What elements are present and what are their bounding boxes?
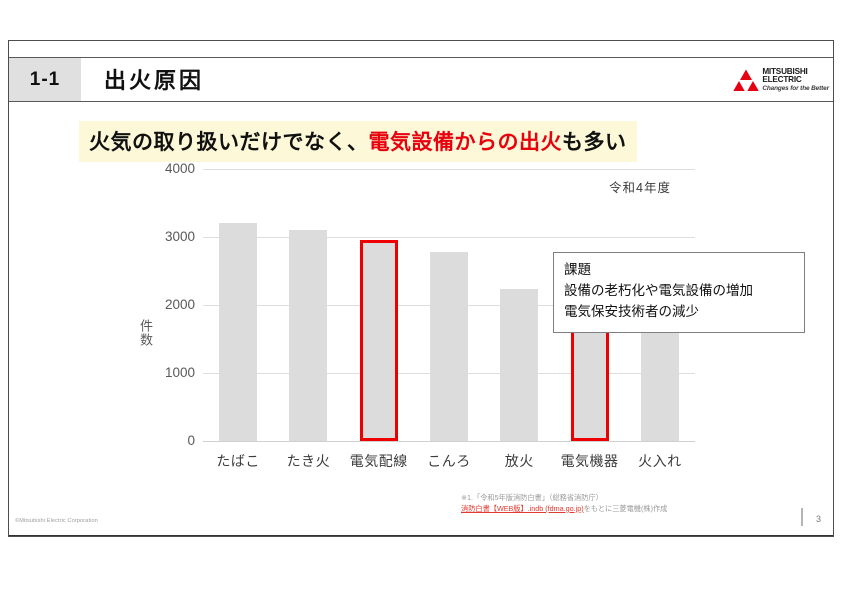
x-axis-label-火入れ: 火入れ [625,451,695,471]
y-axis-tick-label: 3000 [139,229,195,244]
y-axis-tick-label: 2000 [139,297,195,312]
callout-line-2: 設備の老朽化や電気設備の増加 [564,281,794,302]
source-link[interactable]: 消防白書【WEB版】.indb (fdma.go.jp) [461,504,584,513]
page-number: 3 [816,514,821,524]
callout-line-3: 電気保安技術者の減少 [564,302,794,323]
x-axis-label-こんろ: こんろ [414,451,484,471]
footer-divider [9,535,833,536]
three-diamonds-icon [733,69,759,91]
copyright-text: ©Mitsubishi Electric Corporation [15,518,98,524]
slide: 1-1 出火原因 MITSUBISHI ELECTRIC Changes for… [8,40,834,537]
x-axis-label-たばこ: たばこ [203,451,273,471]
x-axis-label-たき火: たき火 [273,451,343,471]
bar-こんろ [430,252,468,441]
page-title: 出火原因 [104,63,204,95]
slide-header: 1-1 出火原因 MITSUBISHI ELECTRIC Changes for… [9,57,833,102]
x-axis-label-電気配線: 電気配線 [344,451,414,471]
key-message-part1: 火気の取り扱いだけでなく、 [89,131,369,154]
key-message-banner: 火気の取り扱いだけでなく、電気設備からの出火も多い [79,121,637,162]
y-axis-title: 件数 [136,319,155,347]
bar-たばこ [219,223,257,441]
bar-放火 [500,289,538,441]
x-axis-label-電気機器: 電気機器 [554,451,624,471]
logo-wordmark: MITSUBISHI ELECTRIC Changes for the Bett… [762,68,829,92]
y-axis-tick-label: 0 [139,433,195,448]
bar-たき火 [289,230,327,441]
callout-heading: 課題 [564,260,794,281]
logo-tagline: Changes for the Better [762,86,829,93]
footnote-line-2: 消防白書【WEB版】.indb (fdma.go.jp)をもとに三菱電機(株)作… [461,504,667,515]
source-footnote: ※1.「令和5年版消防白書」（総務省消防庁） 消防白書【WEB版】.indb (… [461,493,667,515]
issue-callout-box: 課題 設備の老朽化や電気設備の増加 電気保安技術者の減少 [553,252,805,333]
section-number-badge: 1-1 [9,58,81,101]
mitsubishi-electric-logo: MITSUBISHI ELECTRIC Changes for the Bett… [729,60,829,100]
y-axis-tick-label: 4000 [139,161,195,176]
footnote-line-1: ※1.「令和5年版消防白書」（総務省消防庁） [461,493,667,504]
key-message-highlight: 電気設備からの出火 [369,131,563,154]
logo-line-2: ELECTRIC [762,76,829,84]
key-message-part2: も多い [562,131,627,154]
page-number-separator [801,508,803,526]
y-axis-tick-label: 1000 [139,365,195,380]
footnote-line-2-tail: をもとに三菱電機(株)作成 [584,504,668,513]
gridline [203,441,695,442]
bar-電気配線 [360,240,398,441]
x-axis-label-放火: 放火 [484,451,554,471]
